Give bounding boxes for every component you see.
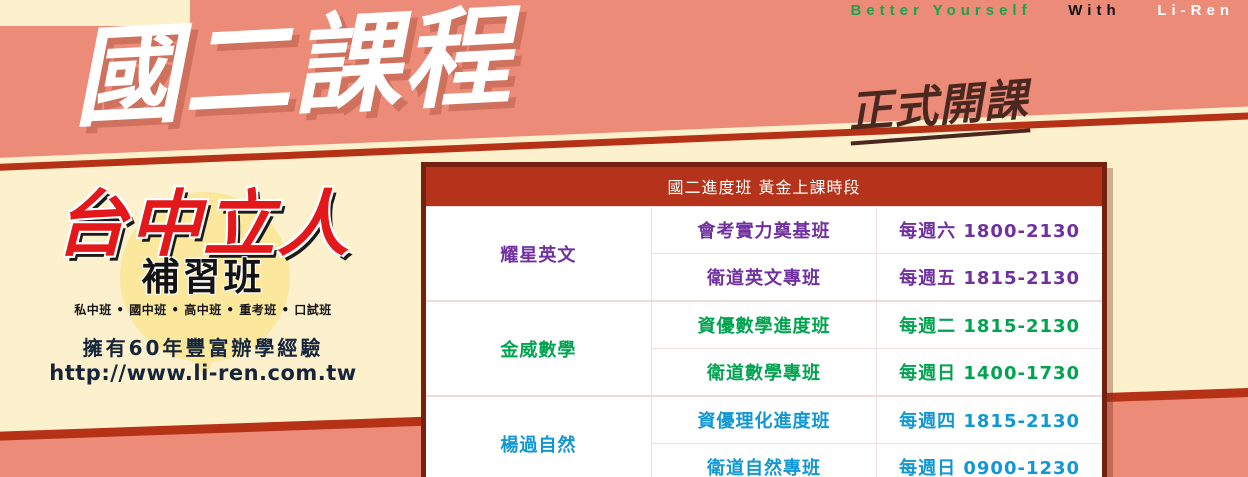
tagline-part-better: Better Yourself (850, 2, 1031, 19)
time-cell: 每週五 1815-2130 (877, 254, 1102, 302)
time-cell: 每週日 0900-1230 (877, 444, 1102, 477)
logo-experience-text: 擁有60年豐富辦學經驗 (28, 336, 378, 361)
subheadline-group: 正式開課 (846, 63, 1030, 140)
subject-cell: 楊過自然 (426, 396, 651, 477)
promo-banner: Better Yourself With Li-Ren 國二課程 正式開課 台中… (0, 0, 1248, 477)
schedule-table: 國二進度班 黃金上課時段 耀星英文會考實力奠基班每週六 1800-2130衛道英… (426, 167, 1102, 477)
course-cell: 資優理化進度班 (651, 396, 876, 444)
headline-group: 國二課程 (69, 0, 515, 140)
brand-tagline: Better Yourself With Li-Ren (850, 2, 1234, 19)
table-row: 楊過自然資優理化進度班每週四 1815-2130 (426, 396, 1102, 444)
table-row: 耀星英文會考實力奠基班每週六 1800-2130 (426, 207, 1102, 254)
course-cell: 資優數學進度班 (651, 301, 876, 349)
course-cell: 衛道自然專班 (651, 444, 876, 477)
course-cell: 衛道數學專班 (651, 349, 876, 397)
course-cell: 會考實力奠基班 (651, 207, 876, 254)
time-cell: 每週六 1800-2130 (877, 207, 1102, 254)
schedule-title: 國二進度班 黃金上課時段 (426, 167, 1102, 207)
subtitle-open-now: 正式開課 (847, 74, 1031, 145)
tagline-part-liren: Li-Ren (1157, 2, 1234, 19)
logo-block: 台中立人 補習班 私中班 • 國中班 • 高中班 • 重考班 • 口試班 擁有6… (28, 188, 378, 386)
schedule-table-head: 國二進度班 黃金上課時段 (426, 167, 1102, 207)
course-cell: 衛道英文專班 (651, 254, 876, 302)
tagline-part-with: With (1068, 2, 1120, 19)
schedule-table-container: 國二進度班 黃金上課時段 耀星英文會考實力奠基班每週六 1800-2130衛道英… (421, 162, 1107, 477)
logo-class-categories: 私中班 • 國中班 • 高中班 • 重考班 • 口試班 (28, 301, 378, 318)
subject-cell: 金威數學 (426, 301, 651, 396)
logo-brand-name: 台中立人 (28, 188, 378, 260)
logo-website-url[interactable]: http://www.li-ren.com.tw (28, 361, 378, 386)
subject-cell: 耀星英文 (426, 207, 651, 302)
time-cell: 每週二 1815-2130 (877, 301, 1102, 349)
time-cell: 每週四 1815-2130 (877, 396, 1102, 444)
page-title: 國二課程 (69, 0, 515, 140)
schedule-table-body: 耀星英文會考實力奠基班每週六 1800-2130衛道英文專班每週五 1815-2… (426, 207, 1102, 477)
table-row: 金威數學資優數學進度班每週二 1815-2130 (426, 301, 1102, 349)
schedule-header-row: 國二進度班 黃金上課時段 (426, 167, 1102, 207)
time-cell: 每週日 1400-1730 (877, 349, 1102, 397)
